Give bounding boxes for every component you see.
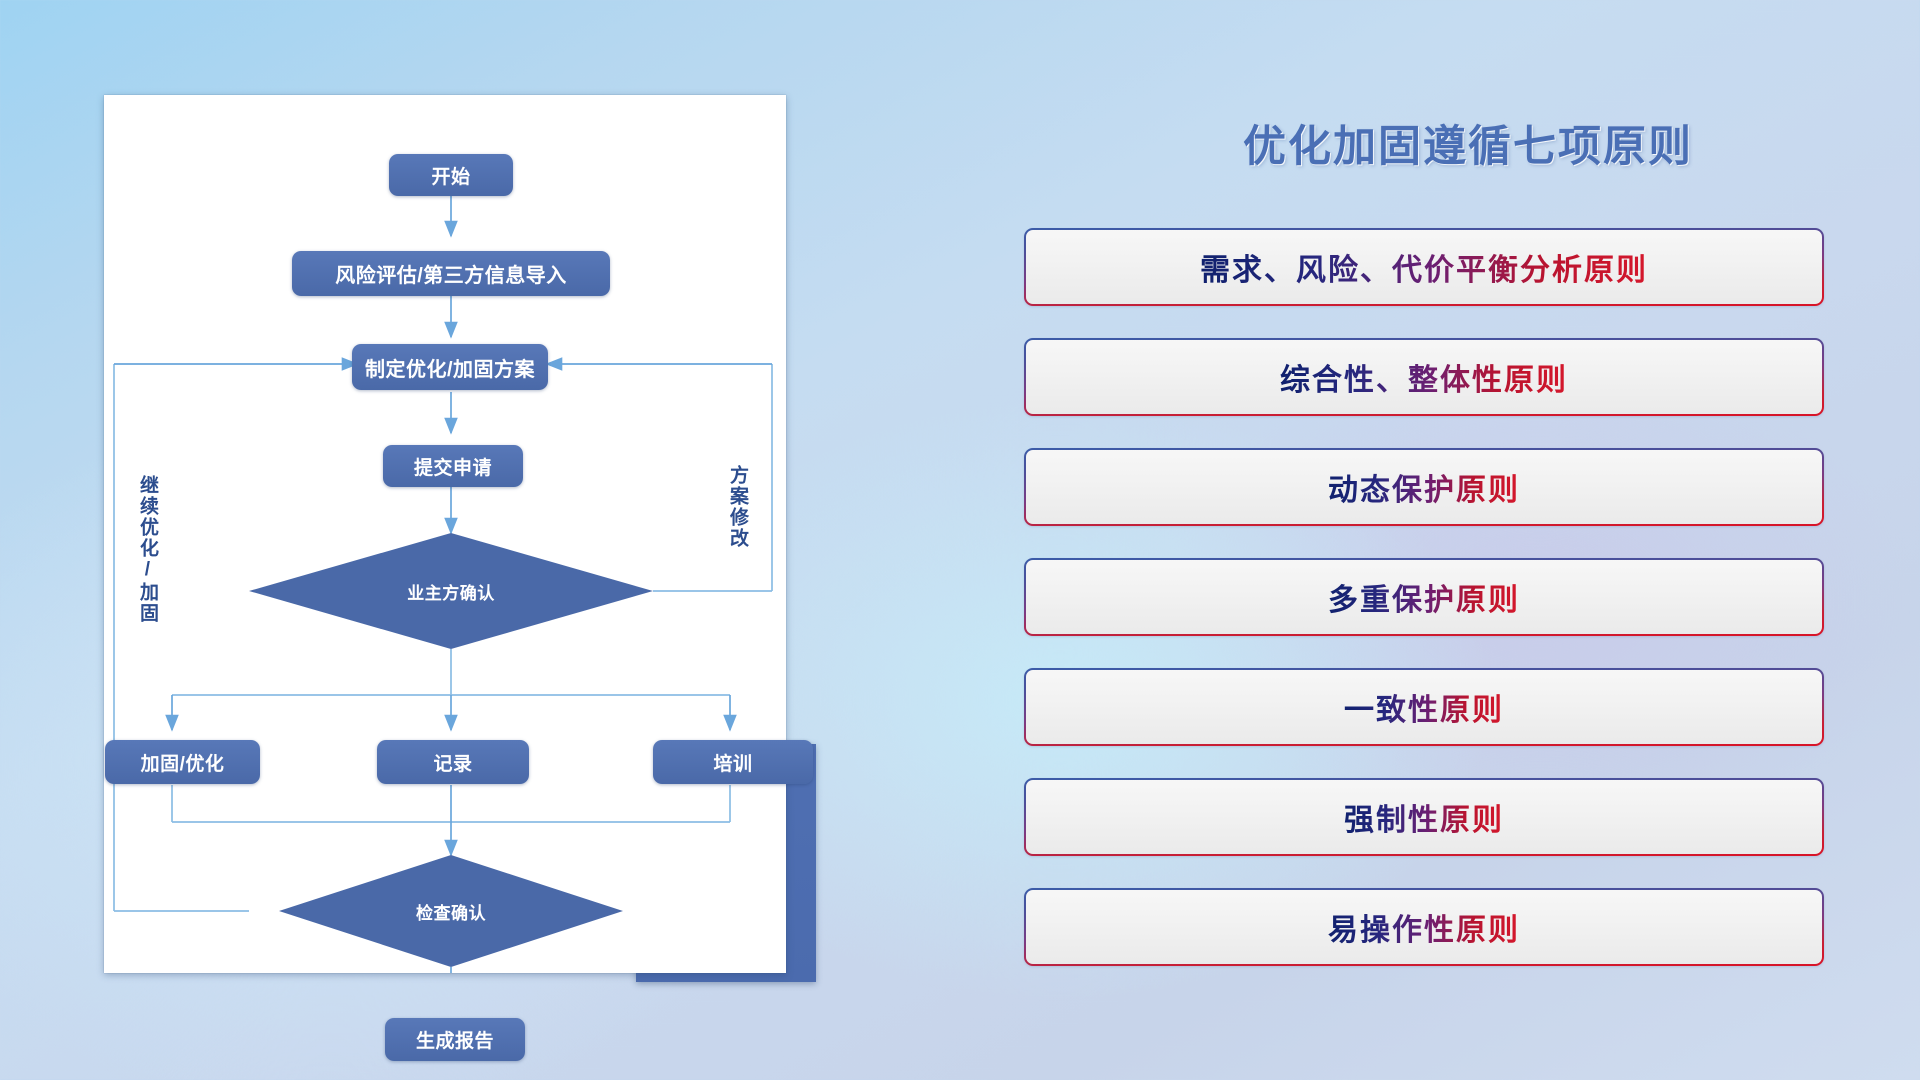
flow-node-reinforce[interactable]: 加固/优化	[105, 740, 260, 784]
flow-node-owner-confirm-label: 业主方确认	[407, 579, 495, 604]
flow-node-risk-assessment[interactable]: 风险评估/第三方信息导入	[292, 251, 610, 296]
flowchart-card: 开始 风险评估/第三方信息导入 制定优化/加固方案 提交申请 业主方确认 加固/…	[104, 95, 786, 973]
principle-card-2[interactable]: 综合性、整体性原则	[1024, 338, 1824, 416]
principle-card-5[interactable]: 一致性原则	[1024, 668, 1824, 746]
flow-node-record-label: 记录	[433, 749, 472, 776]
flow-node-plan-label: 制定优化/加固方案	[365, 353, 535, 382]
principle-label-7: 易操作性原则	[1328, 905, 1520, 949]
flow-node-report-label: 生成报告	[416, 1026, 494, 1053]
principle-card-6[interactable]: 强制性原则	[1024, 778, 1824, 856]
flow-node-training-label: 培训	[713, 749, 752, 776]
principle-label-2: 综合性、整体性原则	[1280, 355, 1568, 399]
flow-node-start[interactable]: 开始	[389, 154, 513, 196]
flow-edge-label-plan-revision: 方案修改	[727, 465, 747, 549]
flow-node-submit-label: 提交申请	[414, 453, 492, 480]
principle-card-3[interactable]: 动态保护原则	[1024, 448, 1824, 526]
page-title: 优化加固遵循七项原则	[1138, 112, 1798, 174]
principle-label-1: 需求、风险、代价平衡分析原则	[1200, 245, 1648, 289]
principle-label-5: 一致性原则	[1344, 685, 1504, 729]
principle-card-7[interactable]: 易操作性原则	[1024, 888, 1824, 966]
principles-list: 需求、风险、代价平衡分析原则 综合性、整体性原则 动态保护原则 多重保护原则 一…	[1024, 228, 1824, 966]
flow-node-risk-assessment-label: 风险评估/第三方信息导入	[335, 259, 567, 288]
flow-node-check-confirm[interactable]: 检查确认	[279, 855, 623, 967]
flow-node-report[interactable]: 生成报告	[385, 1018, 525, 1061]
principle-label-6: 强制性原则	[1344, 795, 1504, 839]
principle-label-4: 多重保护原则	[1328, 575, 1520, 619]
flow-node-submit[interactable]: 提交申请	[383, 445, 523, 487]
flow-node-check-confirm-label: 检查确认	[416, 899, 486, 924]
flow-node-start-label: 开始	[431, 162, 470, 189]
principles-panel: 优化加固遵循七项原则 需求、风险、代价平衡分析原则 综合性、整体性原则 动态保护…	[1010, 0, 1920, 1080]
principle-card-1[interactable]: 需求、风险、代价平衡分析原则	[1024, 228, 1824, 306]
flow-node-training[interactable]: 培训	[653, 740, 813, 784]
flow-node-reinforce-label: 加固/优化	[141, 749, 225, 776]
flow-node-record[interactable]: 记录	[377, 740, 529, 784]
principle-label-3: 动态保护原则	[1328, 465, 1520, 509]
principle-card-4[interactable]: 多重保护原则	[1024, 558, 1824, 636]
flow-edge-label-continue-optimize: 继续优化/加固	[137, 475, 157, 624]
flow-node-owner-confirm[interactable]: 业主方确认	[249, 533, 653, 649]
flow-node-plan[interactable]: 制定优化/加固方案	[352, 344, 548, 390]
